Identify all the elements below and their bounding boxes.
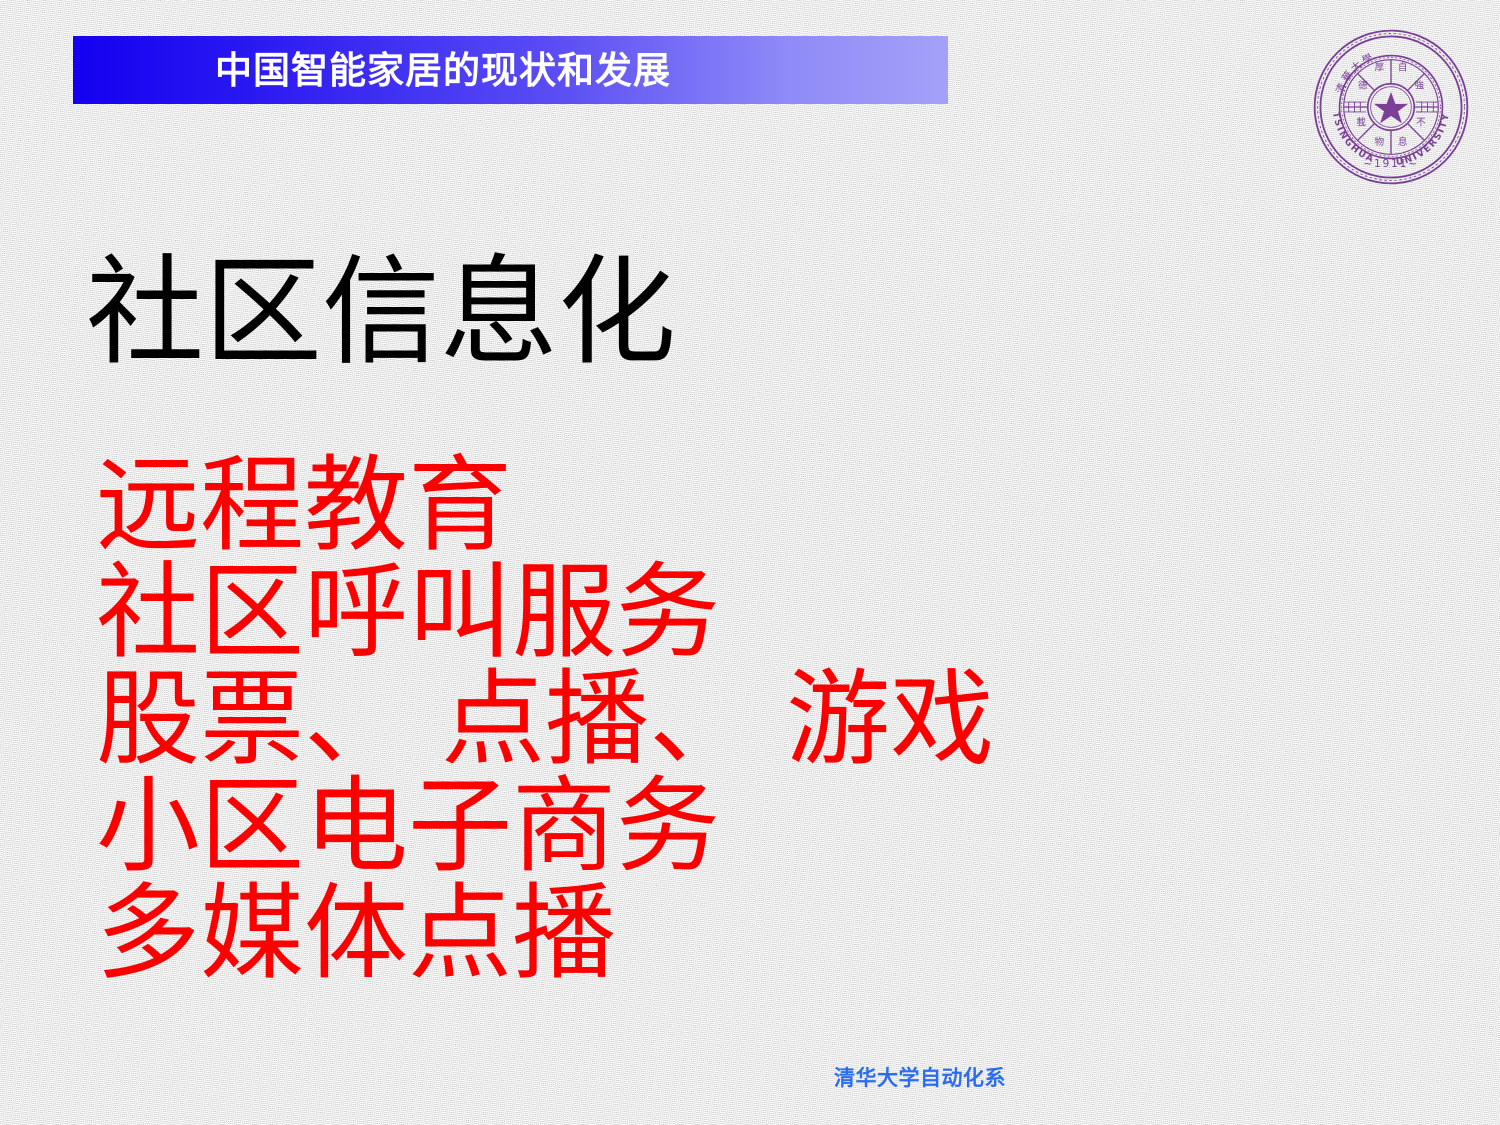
- banner-title: 中国智能家居的现状和发展: [215, 52, 671, 89]
- svg-text:息: 息: [1398, 136, 1408, 148]
- svg-text:不: 不: [1416, 117, 1426, 128]
- footer-label: 清华大学自动化系: [834, 1062, 1006, 1092]
- svg-text:自: 自: [1398, 61, 1408, 73]
- list-item: 股票、 点播、 游戏: [96, 666, 994, 773]
- footer: 清华大学自动化系: [0, 1062, 1500, 1092]
- svg-text:德: 德: [1358, 80, 1368, 92]
- slide-canvas: 中国智能家居的现状和发展: [0, 0, 1500, 1125]
- svg-text:厚: 厚: [1375, 62, 1385, 73]
- svg-text:物: 物: [1375, 136, 1385, 148]
- tsinghua-university-logo-icon: 清華大學 TSINGHUA UNIVERSITY ~1911~ 厚 自 德 強 …: [1308, 24, 1474, 190]
- list-item: 小区电子商务: [96, 773, 994, 880]
- svg-text:強: 強: [1414, 80, 1424, 92]
- header-banner: 中国智能家居的现状和发展: [73, 36, 948, 104]
- svg-text:載: 載: [1356, 116, 1366, 128]
- page-title: 社区信息化: [86, 248, 676, 378]
- list-item: 远程教育: [96, 452, 994, 559]
- content-list: 远程教育 社区呼叫服务 股票、 点播、 游戏 小区电子商务 多媒体点播: [96, 452, 994, 987]
- list-item: 多媒体点播: [96, 880, 994, 987]
- svg-text:~1911~: ~1911~: [1363, 157, 1418, 170]
- list-item: 社区呼叫服务: [96, 559, 994, 666]
- svg-text:清華大學: 清華大學: [1333, 50, 1377, 95]
